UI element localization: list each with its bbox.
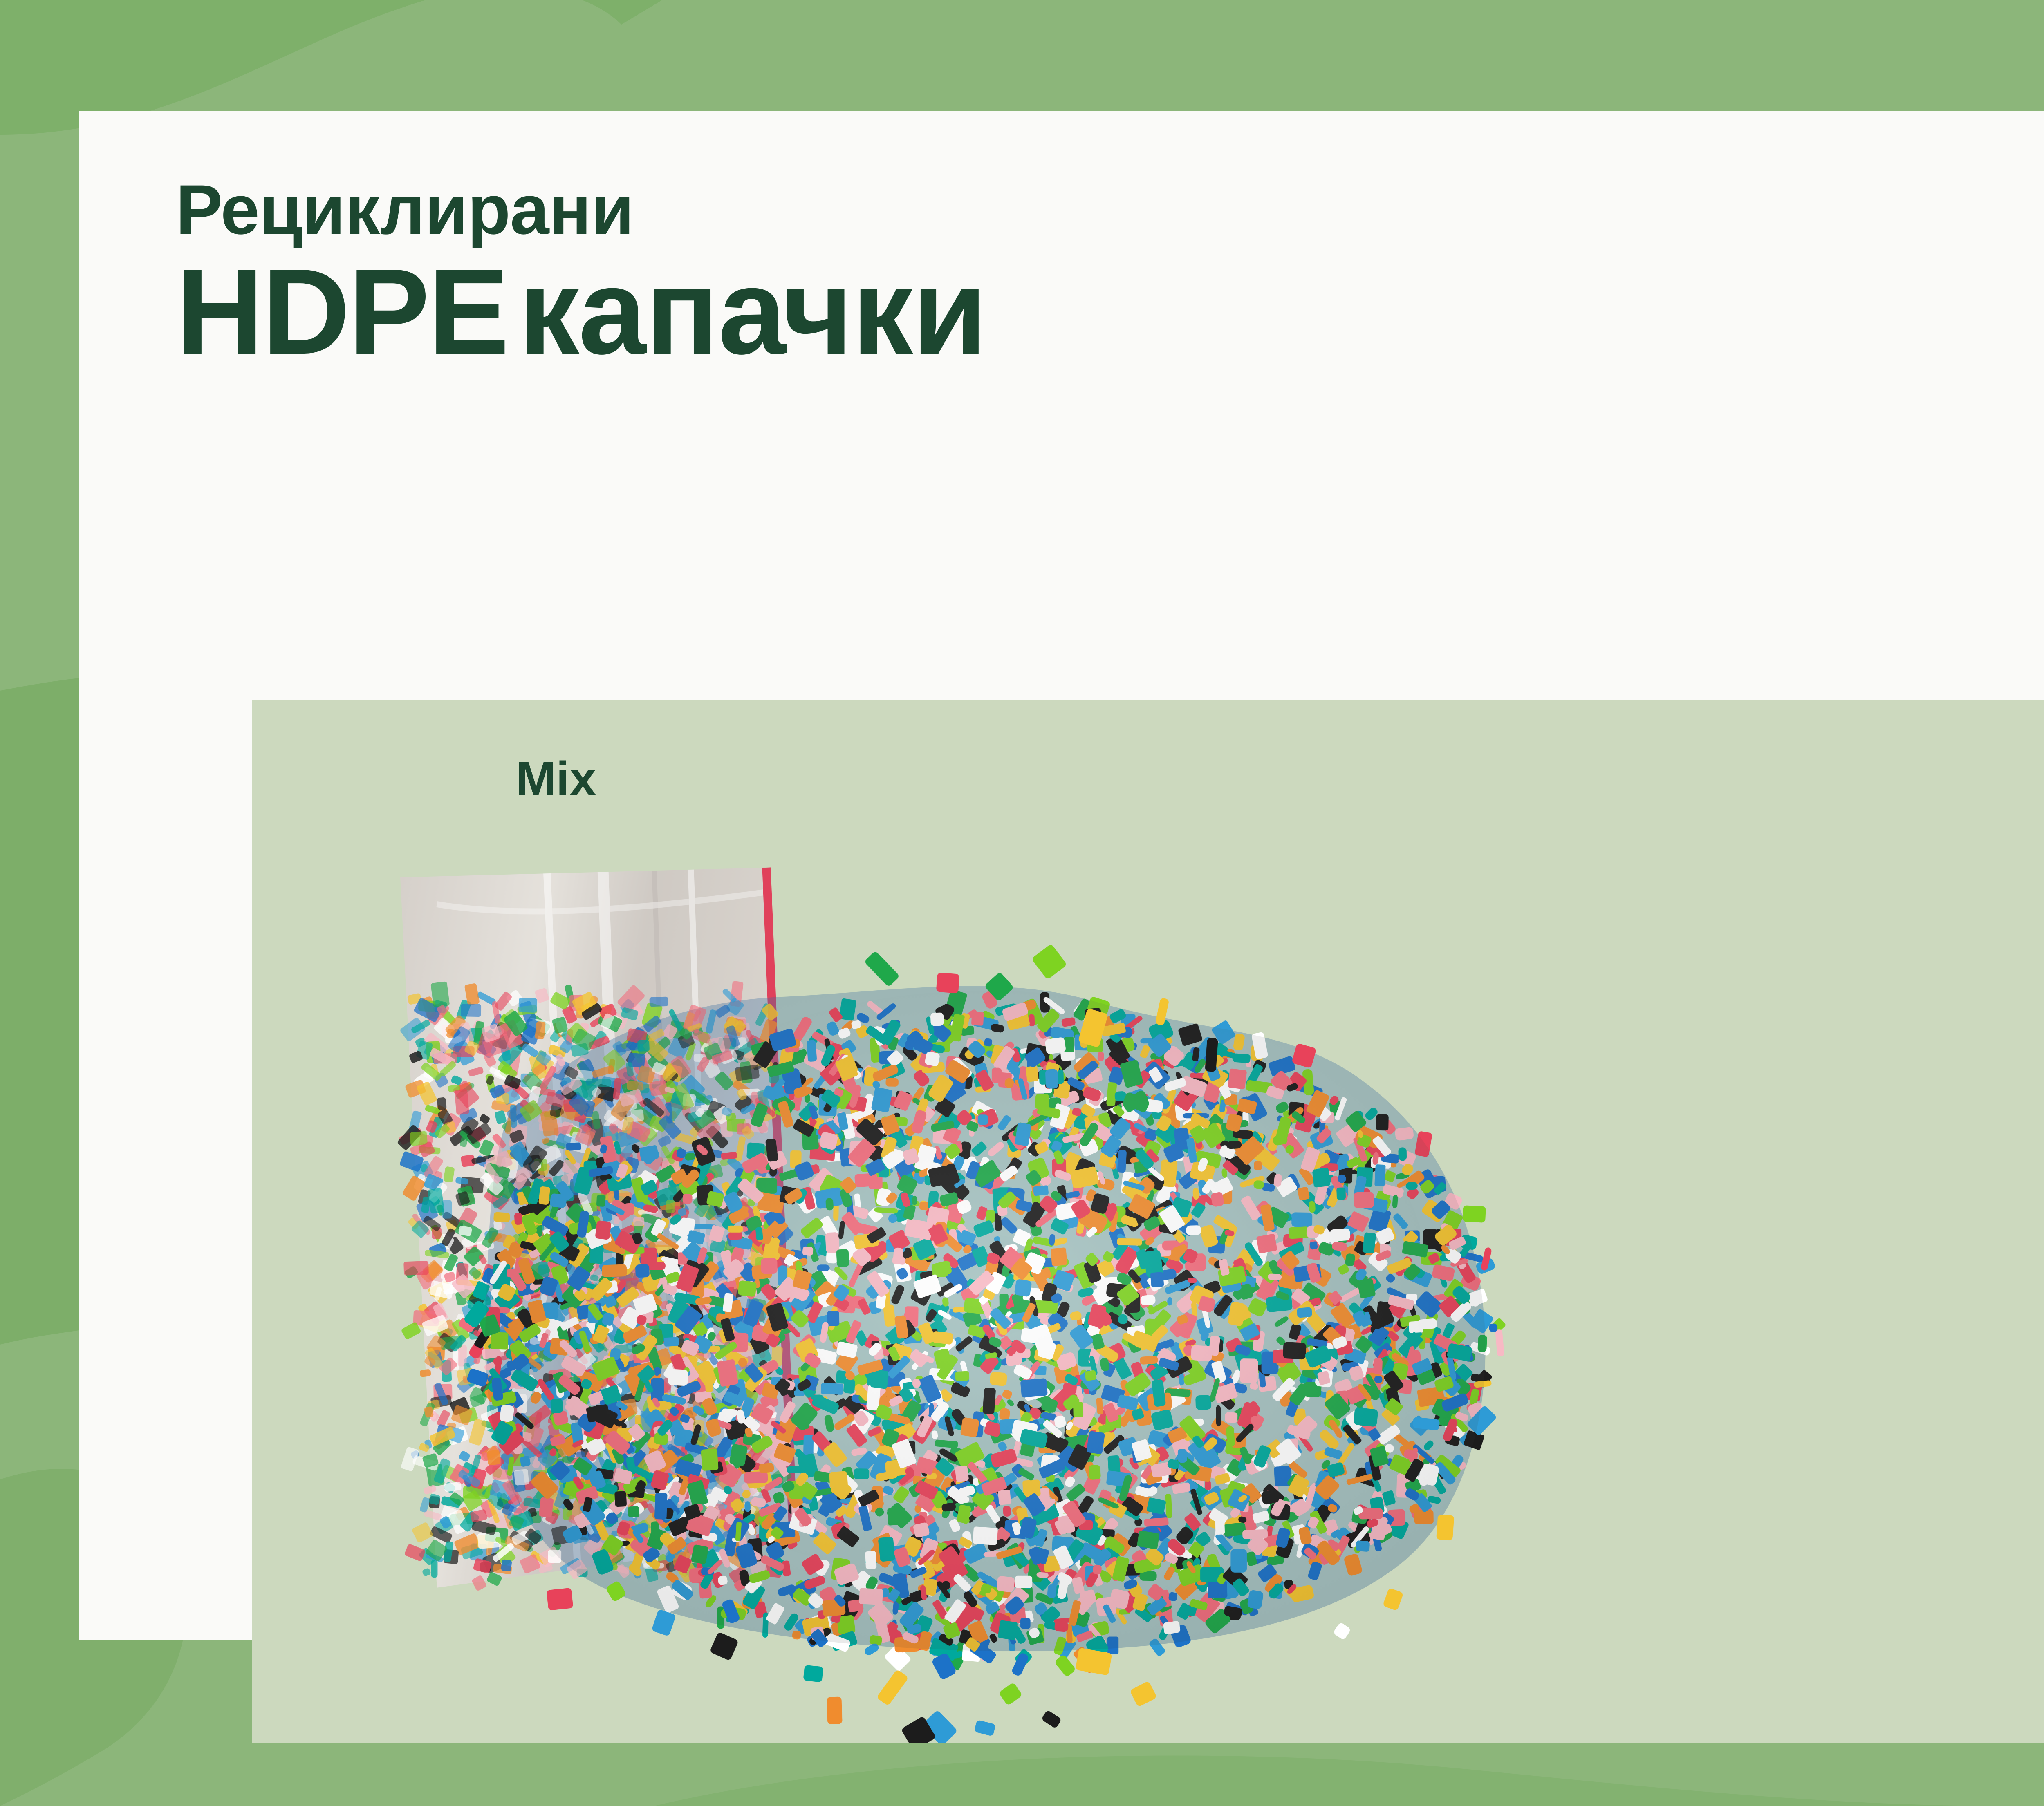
page-title: Рециклирани HDPEкапачки <box>176 172 986 373</box>
title-hdpe: HDPE <box>176 244 508 380</box>
title-line-1: Рециклирани <box>176 172 986 247</box>
header: Рециклирани HDPEкапачки <box>176 172 2044 585</box>
slide-card: Рециклирани HDPEкапачки <box>79 111 2044 1640</box>
globe-icon <box>2039 303 2044 532</box>
green-earth-sprout-logo <box>2019 197 2044 532</box>
title-line-2: HDPEкапачки <box>176 251 986 373</box>
hdpe-caps-flakes-photo <box>361 855 1697 1743</box>
product-panel: Mix <box>252 700 2044 1743</box>
product-variant-label: Mix <box>516 751 596 807</box>
title-kapachki: капачки <box>518 244 986 380</box>
flakes-pile <box>397 981 1506 1681</box>
